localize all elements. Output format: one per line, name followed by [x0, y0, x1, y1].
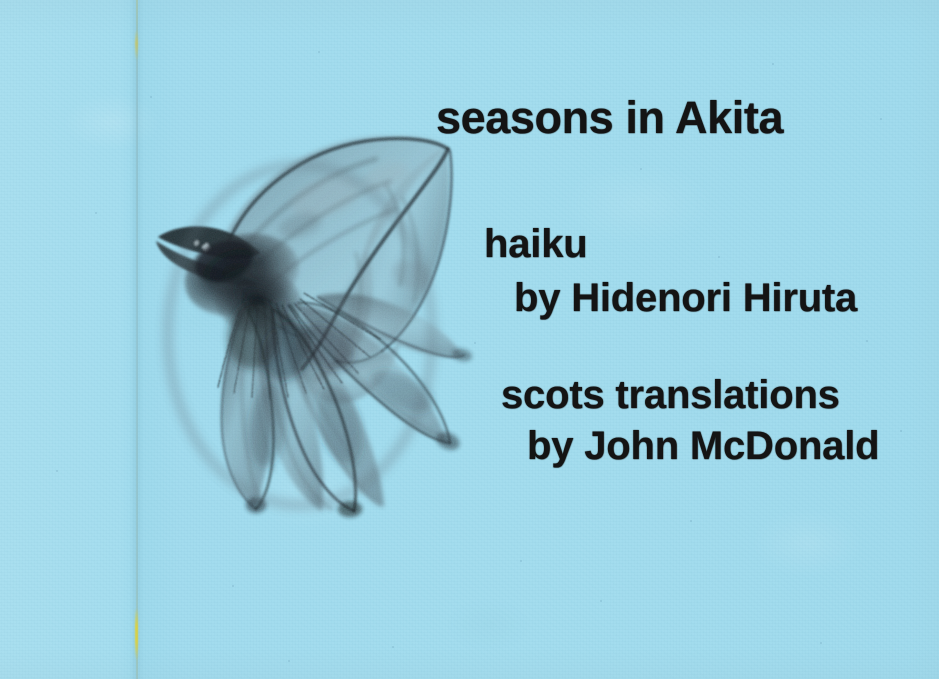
credit-byline-scots-translations: by John McDonald	[527, 424, 879, 469]
credit-role-scots-translations: scots translations	[501, 373, 840, 418]
book-cover: seasons in Akita haiku by Hidenori Hirut…	[0, 0, 939, 679]
cover-text-block: seasons in Akita haiku by Hidenori Hirut…	[0, 0, 939, 679]
credit-role-haiku: haiku	[484, 222, 587, 267]
credit-byline-haiku: by Hidenori Hiruta	[514, 276, 857, 321]
cover-title: seasons in Akita	[436, 92, 783, 144]
